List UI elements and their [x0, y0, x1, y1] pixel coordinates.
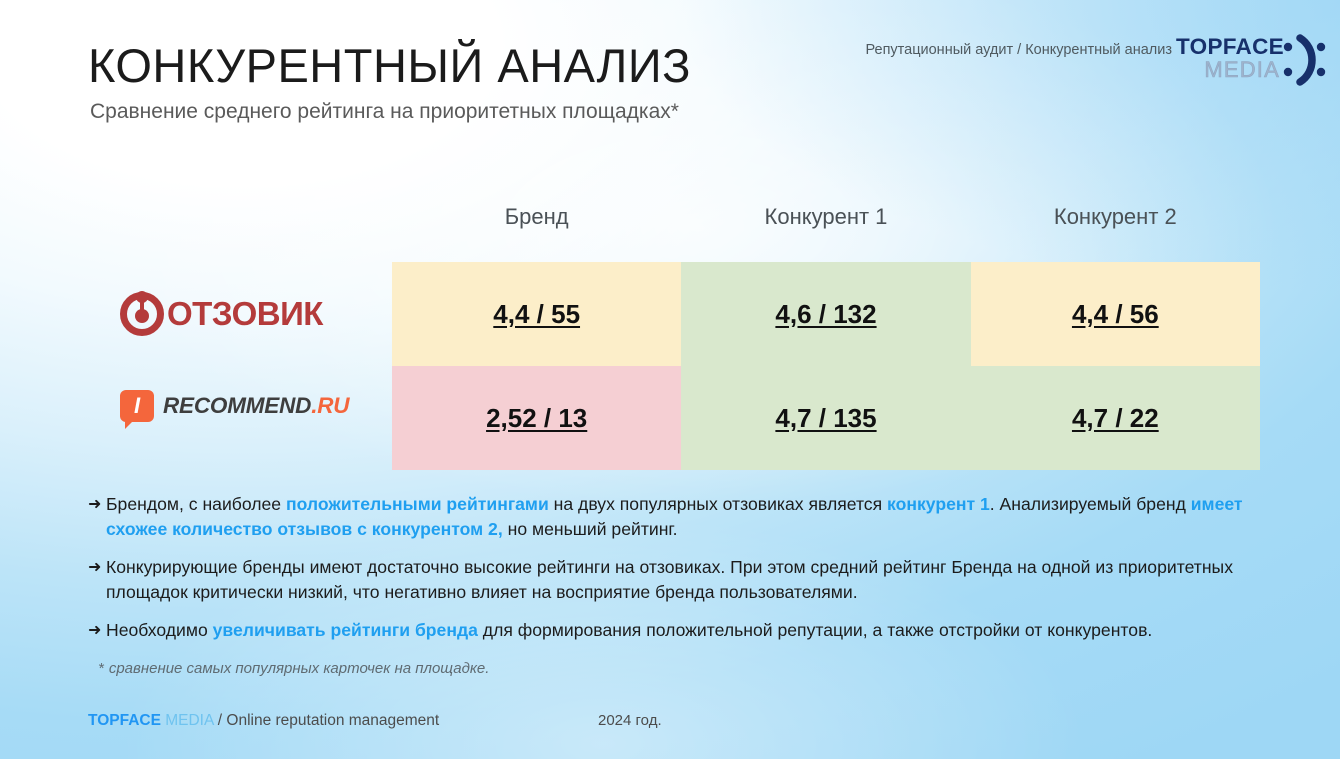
table-cell: 4,4 / 55	[392, 262, 681, 366]
irecommend-badge-letter: I	[134, 395, 140, 417]
table-cell: 2,52 / 13	[392, 366, 681, 470]
topface-media-logo: TOPFACE MEDIA	[1176, 36, 1324, 88]
footnote: *сравнение самых популярных карточек на …	[98, 660, 489, 677]
arrow-icon: ➜	[88, 492, 101, 517]
bullet-text: на двух популярных отзовиках является	[549, 494, 887, 514]
bullet-text: Необходимо	[106, 620, 213, 640]
logo-topface-text: TOPFACE	[1176, 36, 1280, 58]
page-subtitle: Сравнение среднего рейтинга на приоритет…	[90, 100, 679, 124]
bullet-highlight: положительными рейтингами	[286, 494, 549, 514]
page-title: КОНКУРЕНТНЫЙ АНАЛИЗ	[88, 38, 691, 93]
comparison-table: 4,4 / 55 4,6 / 132 4,4 / 56 2,52 / 13 4,…	[392, 262, 1260, 470]
footer-date: 2024 год.	[598, 712, 662, 729]
table-cell: 4,4 / 56	[971, 262, 1260, 366]
bullet-highlight: конкурент 1	[887, 494, 990, 514]
bullet-text: Конкурирующие бренды имеют достаточно вы…	[106, 557, 1233, 602]
table-column-headers: Бренд Конкурент 1 Конкурент 2	[392, 204, 1260, 230]
footer-topface: TOPFACE	[88, 712, 161, 729]
insights-list: ➜ Брендом, с наиболее положительными рей…	[88, 492, 1253, 656]
column-header-competitor-1: Конкурент 1	[681, 204, 970, 230]
list-item: ➜ Брендом, с наиболее положительными рей…	[88, 492, 1253, 542]
table-cell: 4,6 / 132	[681, 262, 970, 366]
irecommend-logo-text: RECOMMEND.RU	[163, 393, 349, 419]
footer-tagline: / Online reputation management	[218, 712, 439, 729]
breadcrumb: Репутационный аудит / Конкурентный анали…	[865, 42, 1172, 58]
footer-brand: TOPFACE MEDIA / Online reputation manage…	[88, 712, 439, 730]
arrow-icon: ➜	[88, 618, 101, 643]
footnote-text: сравнение самых популярных карточек на п…	[109, 660, 490, 677]
bullet-text: Брендом, с наиболее	[106, 494, 286, 514]
otzovik-mark-icon	[120, 292, 164, 336]
otzovik-logo: ОТЗОВИК	[120, 292, 323, 336]
list-item: ➜ Необходимо увеличивать рейтинги бренда…	[88, 618, 1253, 643]
table-cell: 4,7 / 22	[971, 366, 1260, 470]
table-cell: 4,7 / 135	[681, 366, 970, 470]
bullet-highlight: увеличивать рейтинги бренда	[213, 620, 478, 640]
smiley-icon	[1280, 34, 1326, 86]
footnote-star: *	[98, 660, 104, 677]
irecommend-logo: I RECOMMEND.RU	[120, 390, 349, 422]
bullet-text: . Анализируемый бренд	[990, 494, 1191, 514]
table-row: 4,4 / 55 4,6 / 132 4,4 / 56	[392, 262, 1260, 366]
arrow-icon: ➜	[88, 555, 101, 580]
irecommend-tld: .RU	[311, 393, 349, 418]
speech-bubble-icon: I	[120, 390, 154, 422]
table-row: 2,52 / 13 4,7 / 135 4,7 / 22	[392, 366, 1260, 470]
column-header-competitor-2: Конкурент 2	[971, 204, 1260, 230]
logo-media-text: MEDIA	[1176, 58, 1280, 82]
list-item: ➜ Конкурирующие бренды имеют достаточно …	[88, 555, 1253, 605]
column-header-brand: Бренд	[392, 204, 681, 230]
footer-media: MEDIA	[165, 712, 213, 729]
otzovik-logo-text: ОТЗОВИК	[167, 295, 323, 333]
bullet-text: для формирования положительной репутации…	[478, 620, 1152, 640]
bullet-text: но меньший рейтинг.	[503, 519, 678, 539]
